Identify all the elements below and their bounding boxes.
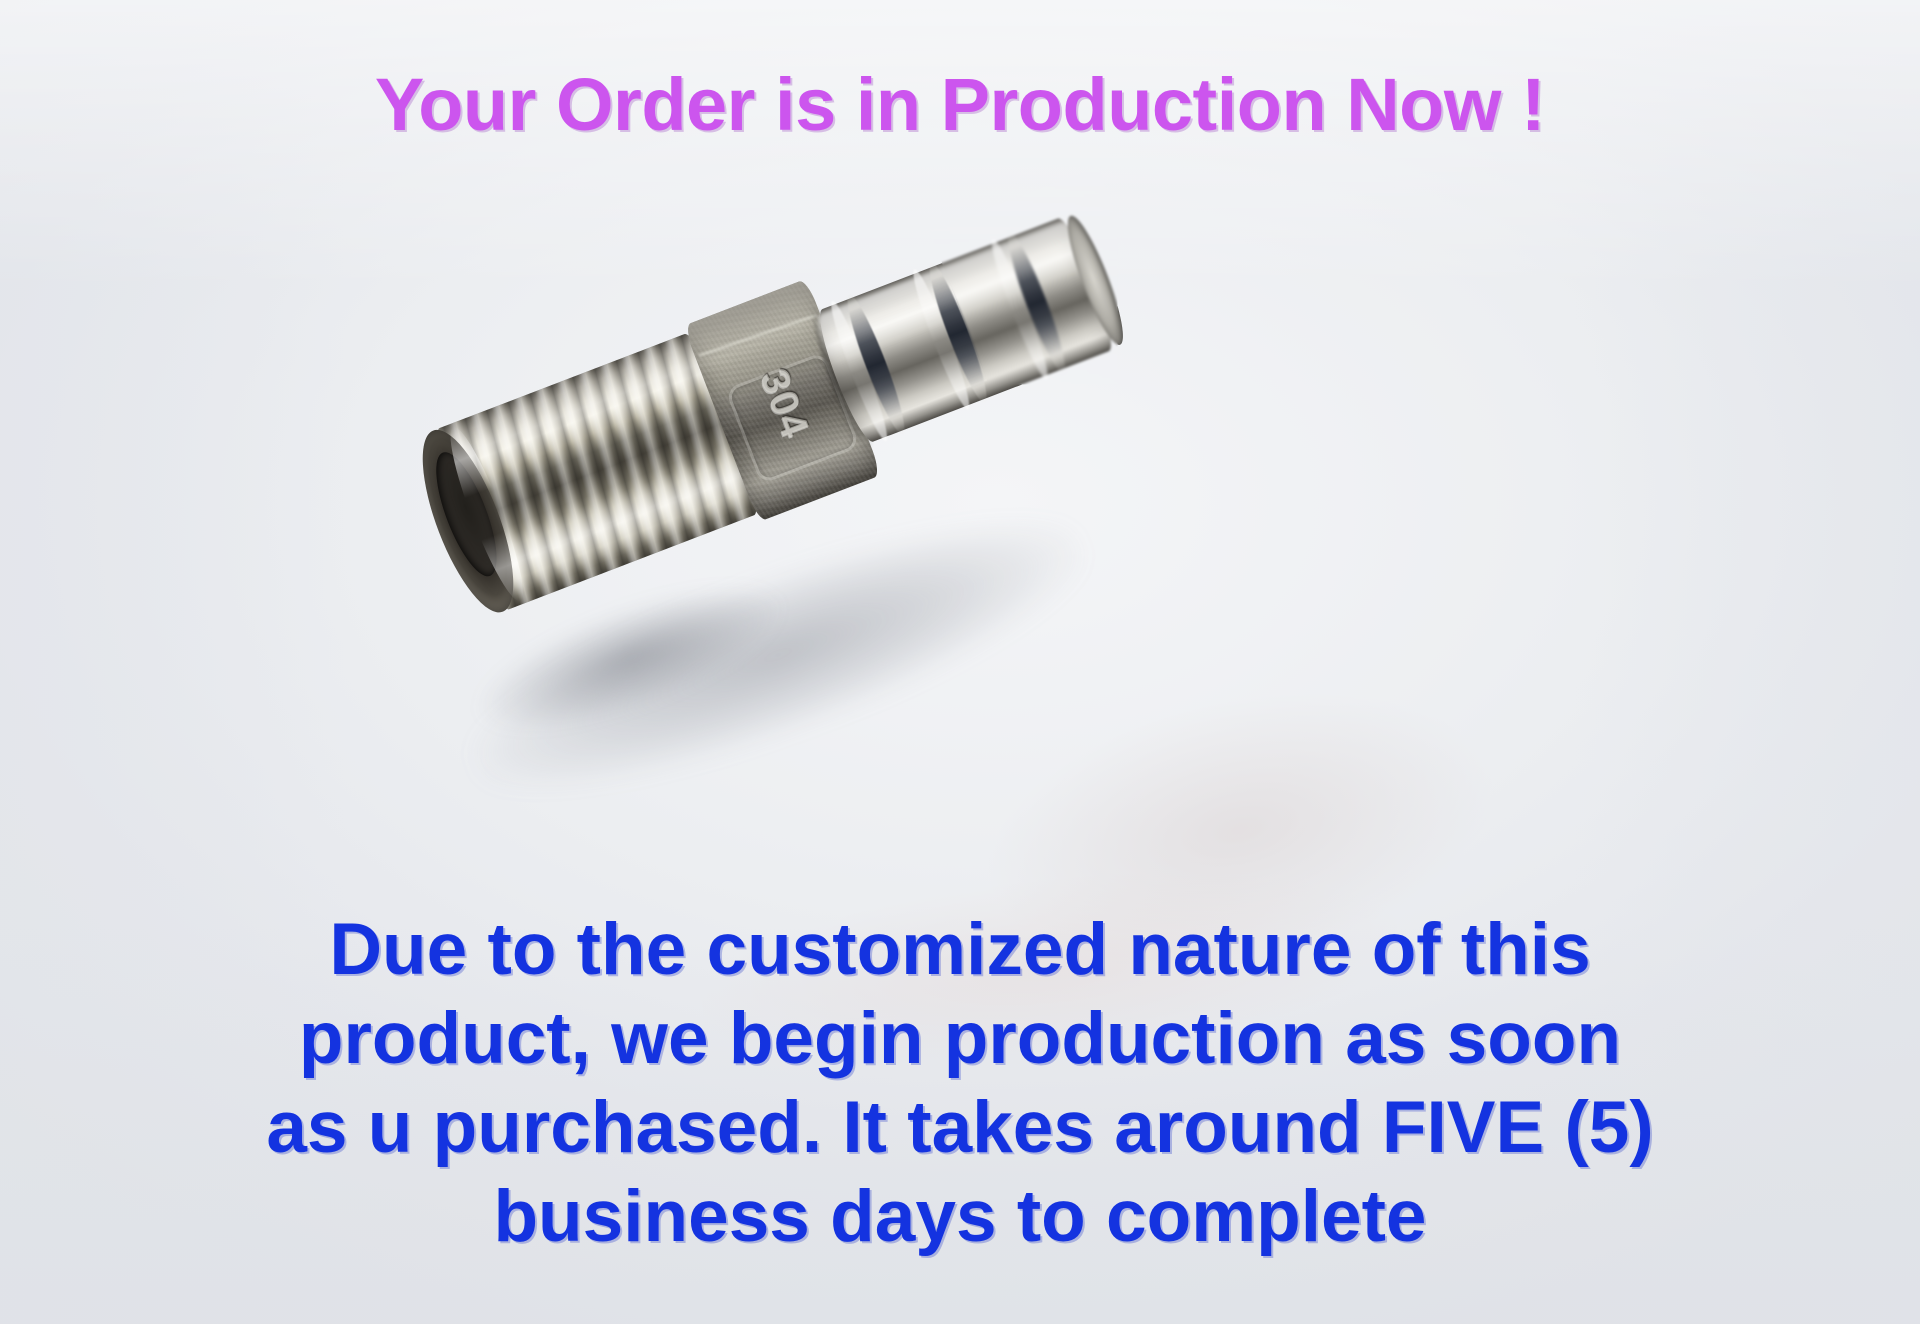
promo-banner: Your Order is in Production Now ! 304 xyxy=(0,0,1920,1324)
product-photo: 304 xyxy=(440,280,1200,750)
